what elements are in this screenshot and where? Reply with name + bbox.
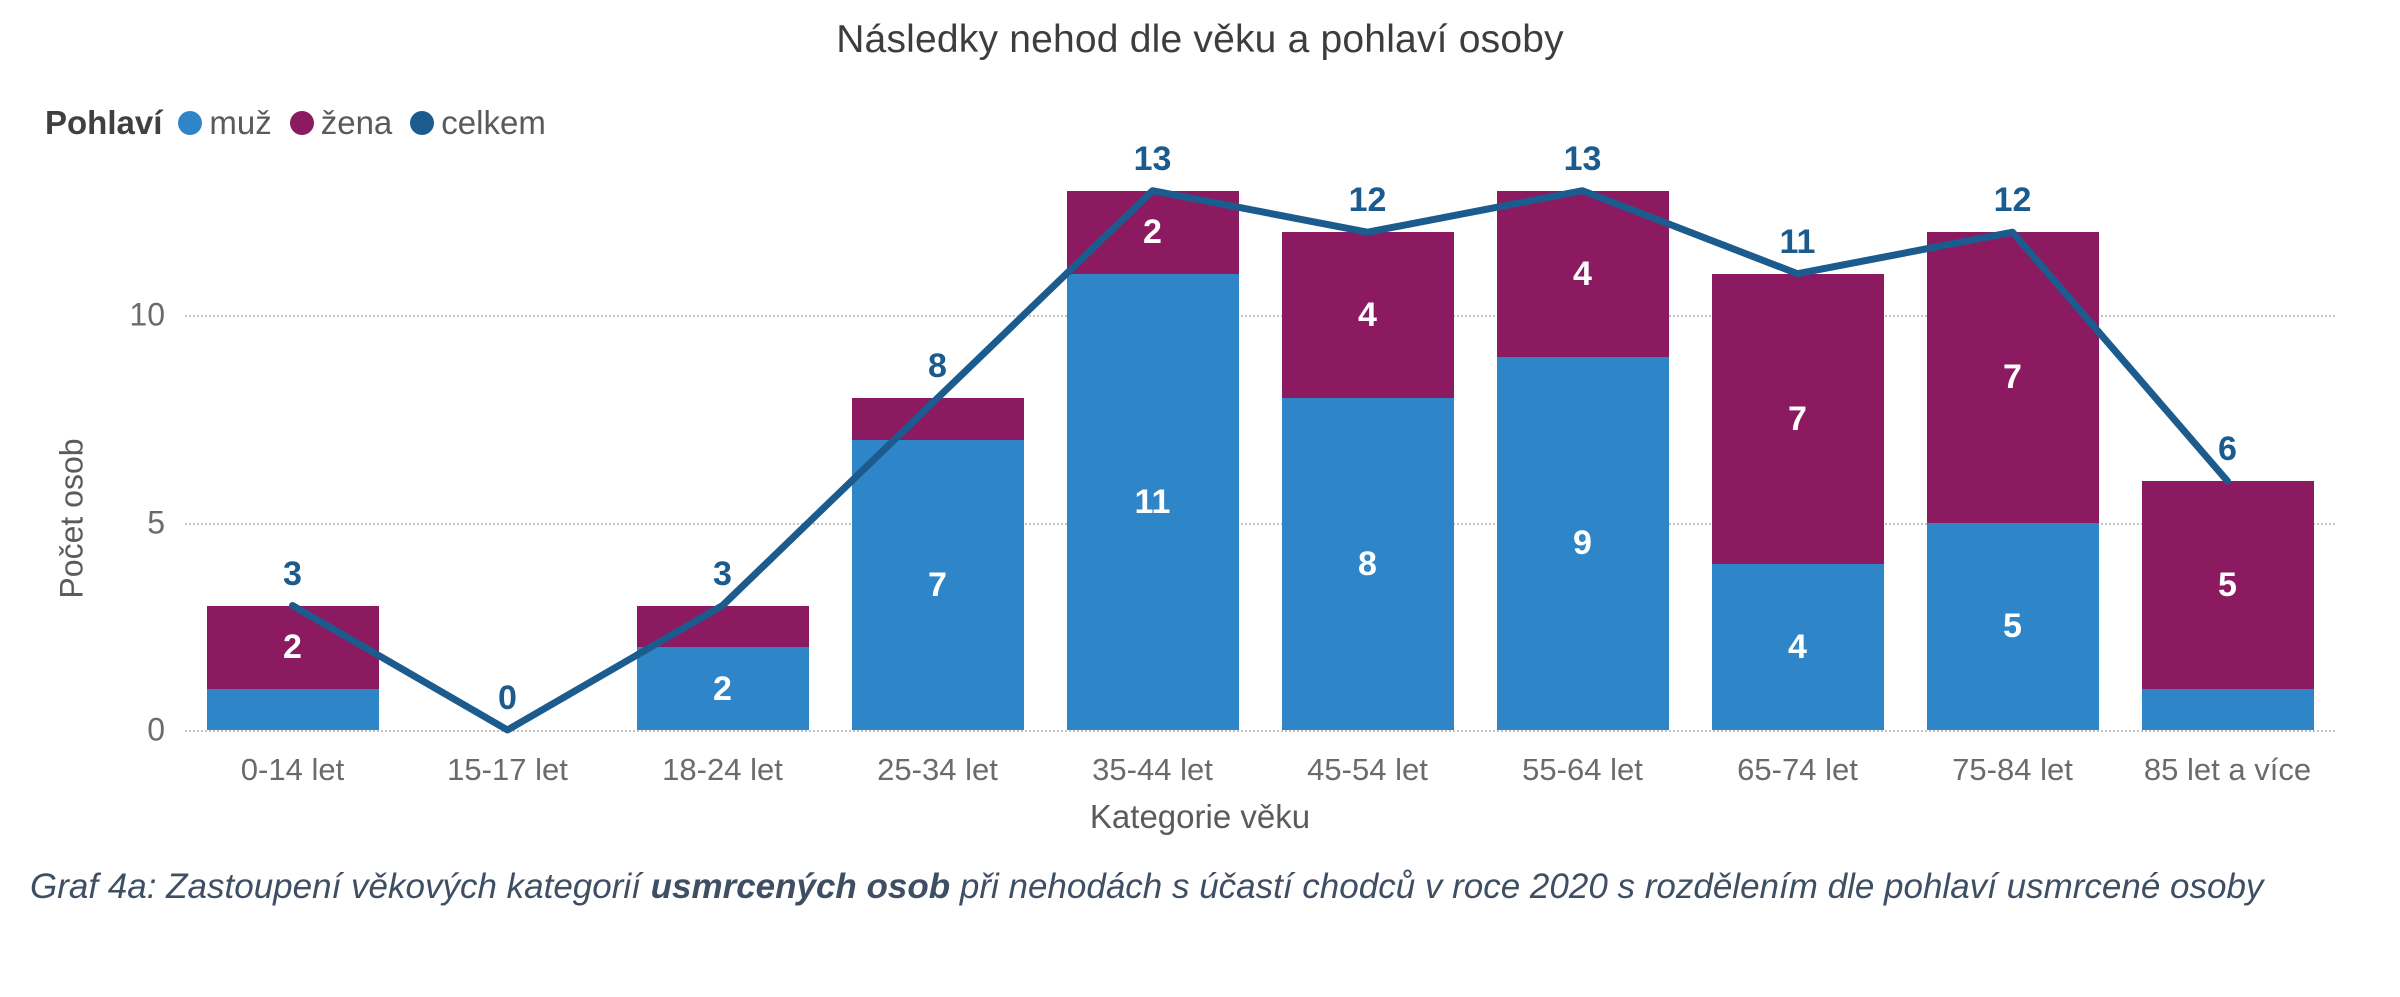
x-tick-label: 25-34 let [877, 752, 998, 788]
chart-page: Následky nehod dle věku a pohlaví osoby … [0, 0, 2400, 997]
x-tick-label: 55-64 let [1522, 752, 1643, 788]
y-tick-label: 0 [105, 712, 165, 749]
x-tick-label: 45-54 let [1307, 752, 1428, 788]
x-axis-title: Kategorie věku [0, 798, 2400, 836]
y-tick-label: 5 [105, 504, 165, 541]
x-tick-label: 0-14 let [241, 752, 344, 788]
legend-label-muz: muž [209, 104, 271, 142]
x-tick-label: 65-74 let [1737, 752, 1858, 788]
total-value-label: 12 [1994, 181, 2032, 220]
total-line-series [185, 170, 2335, 730]
legend-title: Pohlaví [45, 104, 162, 142]
y-axis-title: Počet osob [54, 409, 91, 629]
total-value-label: 6 [2218, 430, 2237, 469]
x-tick-label: 75-84 let [1952, 752, 2073, 788]
legend-item-celkem[interactable]: celkem [410, 104, 546, 142]
chart-title: Následky nehod dle věku a pohlaví osoby [0, 18, 2400, 62]
legend-item-zena[interactable]: žena [290, 104, 393, 142]
x-tick-label: 15-17 let [447, 752, 568, 788]
caption-bold: usmrcených osob [651, 867, 951, 906]
total-value-label: 11 [1780, 223, 1816, 262]
caption-suffix: při nehodách s účastí chodců v roce 2020… [950, 867, 2263, 906]
x-tick-label: 18-24 let [662, 752, 783, 788]
y-tick-label: 10 [105, 297, 165, 334]
total-value-label: 13 [1564, 140, 1602, 179]
legend-label-celkem: celkem [441, 104, 546, 142]
legend-swatch-muz-icon [178, 111, 202, 135]
total-value-label: 3 [283, 555, 302, 594]
legend-label-zena: žena [321, 104, 393, 142]
legend-item-muz[interactable]: muž [178, 104, 271, 142]
legend-swatch-celkem-icon [410, 111, 434, 135]
total-value-label: 3 [713, 555, 732, 594]
total-value-label: 8 [928, 347, 947, 386]
figure-caption: Graf 4a: Zastoupení věkových kategorií u… [30, 862, 2360, 912]
total-value-label: 13 [1134, 140, 1172, 179]
legend-swatch-zena-icon [290, 111, 314, 135]
total-value-label: 0 [498, 679, 517, 718]
plot-wrapper: Počet osob 0510 227211484974755 30381312… [0, 170, 2400, 810]
x-tick-label: 35-44 let [1092, 752, 1213, 788]
caption-prefix: Graf 4a: Zastoupení věkových kategorií [30, 867, 651, 906]
total-value-label: 12 [1349, 181, 1387, 220]
total-line-path [293, 191, 2228, 730]
x-tick-label: 85 let a více [2144, 752, 2311, 788]
chart-legend: Pohlaví muž žena celkem [45, 104, 564, 142]
